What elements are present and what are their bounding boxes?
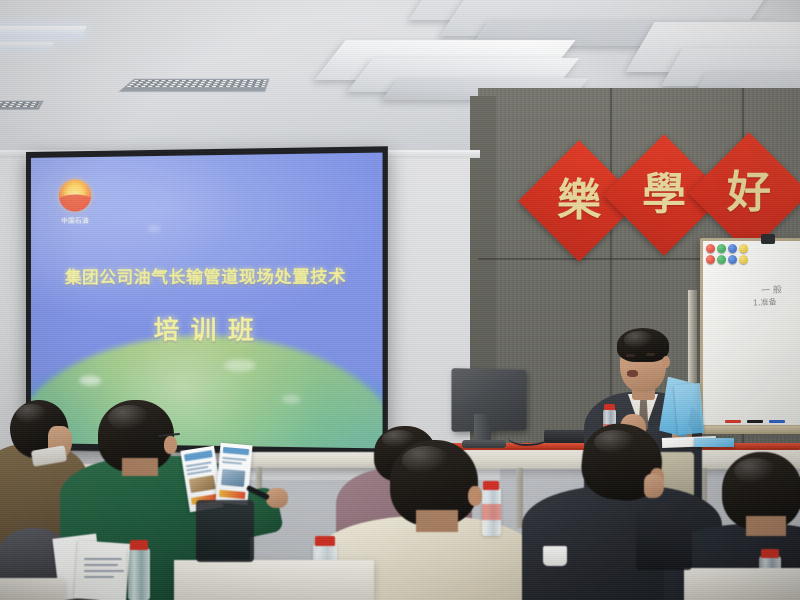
presenter-eye: [626, 354, 635, 357]
petrochina-logo: 中国石油: [57, 179, 93, 228]
monitor-stand-neck: [474, 414, 491, 442]
attendee-ear: [468, 486, 482, 506]
front-desk: [0, 578, 64, 600]
magnet-red[interactable]: [706, 244, 715, 253]
brochure-text-line: [187, 469, 212, 474]
attendee-neck: [122, 458, 158, 476]
fluorescent-strip-light: [0, 42, 54, 49]
magnet-red[interactable]: [706, 255, 715, 264]
whiteboard-clip[interactable]: [761, 234, 775, 244]
air-vent-grille: [0, 100, 44, 110]
hair-highlight: [594, 430, 636, 454]
brochure-text-line: [222, 461, 242, 464]
front-desk: [174, 560, 374, 600]
hair-highlight: [734, 458, 776, 484]
screen-glare: [31, 153, 239, 316]
whiteboard-note-line-1: 一 般: [761, 282, 783, 296]
magnet-green[interactable]: [717, 255, 726, 264]
front-desk: [684, 568, 800, 600]
globe-highlight: [79, 375, 101, 385]
bottle-cap: [483, 481, 499, 490]
slide-title: 集团公司油气长输管道现场处置技术: [31, 263, 383, 288]
brochure-photo: [221, 469, 245, 487]
attendee-hand: [266, 488, 288, 508]
brochure-accent-bar: [219, 490, 246, 499]
brochure-photo: [189, 475, 216, 493]
training-room-photo: 中国石油 集团公司油气长输管道现场处置技术 培训班 樂 學 好 一 般 1.准备: [0, 0, 800, 600]
hair-highlight: [624, 331, 654, 349]
marker-black[interactable]: [747, 420, 763, 423]
globe-highlight: [148, 225, 160, 232]
hair-highlight: [16, 404, 48, 424]
brochure-text-line: [222, 457, 246, 461]
presenter-ear: [662, 356, 670, 368]
handout-text-line: [84, 564, 118, 566]
magnet-yellow[interactable]: [739, 244, 748, 253]
magnet-blue[interactable]: [728, 244, 737, 253]
fluorescent-strip-light: [0, 26, 87, 37]
bottle-label: [482, 504, 501, 520]
handout-text-line: [84, 576, 114, 578]
attendee-face-profile: [644, 474, 664, 498]
slide-subtitle: 培训班: [31, 310, 383, 348]
whiteboard-marker-tray: [699, 426, 800, 434]
presenter-mouth: [627, 370, 638, 377]
air-vent-grille: [117, 78, 270, 92]
chair-back: [196, 500, 254, 562]
paper-cup: [543, 546, 567, 566]
whiteboard-note-line-2: 1.准备: [753, 296, 777, 308]
globe-highlight: [281, 394, 300, 403]
bottle-cap: [130, 540, 148, 550]
hair-highlight: [108, 405, 150, 431]
bottle-cap: [761, 549, 779, 558]
magnet-blue[interactable]: [728, 255, 737, 264]
bottle-cap: [604, 404, 615, 410]
handout-text-line: [84, 570, 124, 572]
projected-slide: 中国石油 集团公司油气长输管道现场处置技术 培训班: [31, 153, 383, 449]
brochure-header-band: [223, 447, 249, 455]
chair-back: [636, 512, 692, 570]
magnet-yellow[interactable]: [739, 255, 748, 264]
table-blue-folder: [694, 438, 734, 447]
water-bottle: [128, 548, 150, 600]
plaque-character: 好: [706, 150, 792, 236]
petrochina-sun-icon: [59, 179, 91, 212]
marker-blue[interactable]: [769, 420, 785, 423]
attendee-ear: [164, 436, 177, 454]
handout-text-line: [84, 558, 122, 560]
slide-globe-graphic: [31, 335, 383, 449]
hair-highlight: [402, 446, 450, 474]
attendee-neck: [416, 510, 458, 532]
marker-red[interactable]: [725, 420, 741, 423]
monitor-base: [462, 440, 506, 448]
globe-highlight: [225, 359, 256, 371]
training-brochure: [215, 443, 252, 506]
bottle-cap: [315, 536, 335, 546]
magnet-green[interactable]: [717, 244, 726, 253]
presenter-blue-handout: [674, 383, 704, 435]
desk-equipment-box: [544, 430, 588, 443]
petrochina-wordmark: 中国石油: [57, 214, 93, 224]
projection-screen: 中国石油 集团公司油气长输管道现场处置技术 培训班: [26, 146, 388, 456]
presenter-eye: [646, 353, 655, 356]
brochure-header-band: [184, 450, 213, 461]
attendee-neck: [746, 516, 786, 536]
whiteboard: 一 般 1.准备: [700, 238, 800, 428]
